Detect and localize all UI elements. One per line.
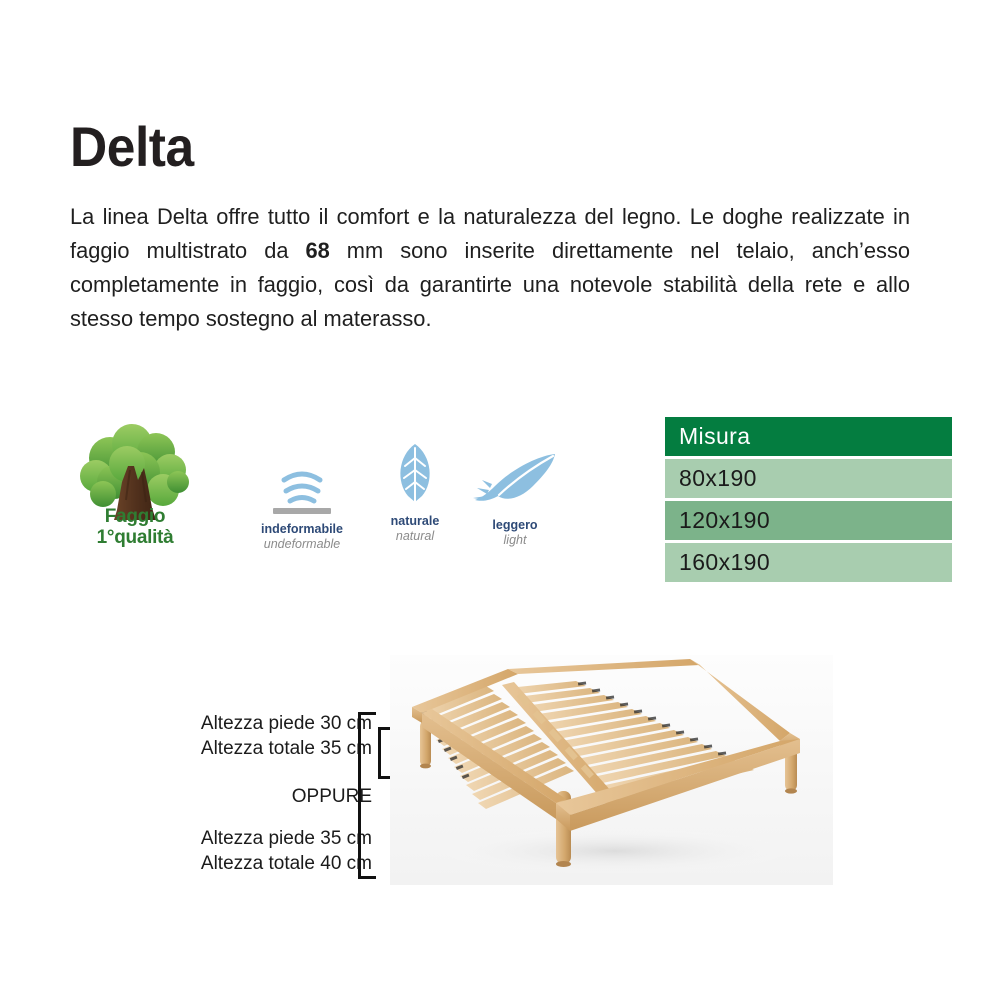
bracket-outer xyxy=(358,712,376,879)
feature-indeformabile: indeformabile undeformable xyxy=(242,450,362,552)
dimension-option-b: Altezza piede 35 cm Altezza totale 40 cm xyxy=(201,826,372,876)
tree-logo-line2: 1°qualità xyxy=(70,527,200,548)
feature-naturale: naturale natural xyxy=(370,442,460,544)
feature-label-it: leggero xyxy=(455,518,575,533)
description-highlight-68: 68 xyxy=(305,238,329,263)
sizes-table-row: 120x190 xyxy=(665,501,952,540)
feature-label-it: naturale xyxy=(370,514,460,529)
feather-icon xyxy=(455,446,575,512)
page-title: Delta xyxy=(70,119,194,175)
feature-faggio-qualita: Faggio 1°qualità xyxy=(70,420,200,545)
sizes-table-row: 80x190 xyxy=(665,459,952,498)
feature-label-it: indeformabile xyxy=(242,522,362,537)
product-description: La linea Delta offre tutto il comfort e … xyxy=(70,200,910,336)
feature-label-en: natural xyxy=(370,529,460,544)
feature-label-en: undeformable xyxy=(242,537,362,552)
leaf-icon xyxy=(370,442,460,508)
sizes-table-row: 160x190 xyxy=(665,543,952,582)
feature-leggero: leggero light xyxy=(455,446,575,548)
dimension-option-b-line1: Altezza piede 35 cm xyxy=(201,826,372,851)
tree-logo-text: Faggio 1°qualità xyxy=(70,506,200,548)
sizes-table-header: Misura xyxy=(665,417,952,456)
dimension-annotations: Altezza piede 30 cm Altezza totale 35 cm… xyxy=(150,700,400,895)
dimension-option-a-line2: Altezza totale 35 cm xyxy=(201,736,372,761)
tree-logo-line1: Faggio xyxy=(70,506,200,527)
bed-slat-base-photo xyxy=(390,655,833,885)
feature-row: Faggio 1°qualità indeformabile undeforma… xyxy=(70,420,590,570)
dimension-option-b-line2: Altezza totale 40 cm xyxy=(201,851,372,876)
dimension-option-a: Altezza piede 30 cm Altezza totale 35 cm xyxy=(201,711,372,761)
dimension-option-a-line1: Altezza piede 30 cm xyxy=(201,711,372,736)
waves-bar-icon xyxy=(242,450,362,516)
sizes-table: Misura 80x190 120x190 160x190 xyxy=(665,417,952,585)
feature-label-en: light xyxy=(455,533,575,548)
